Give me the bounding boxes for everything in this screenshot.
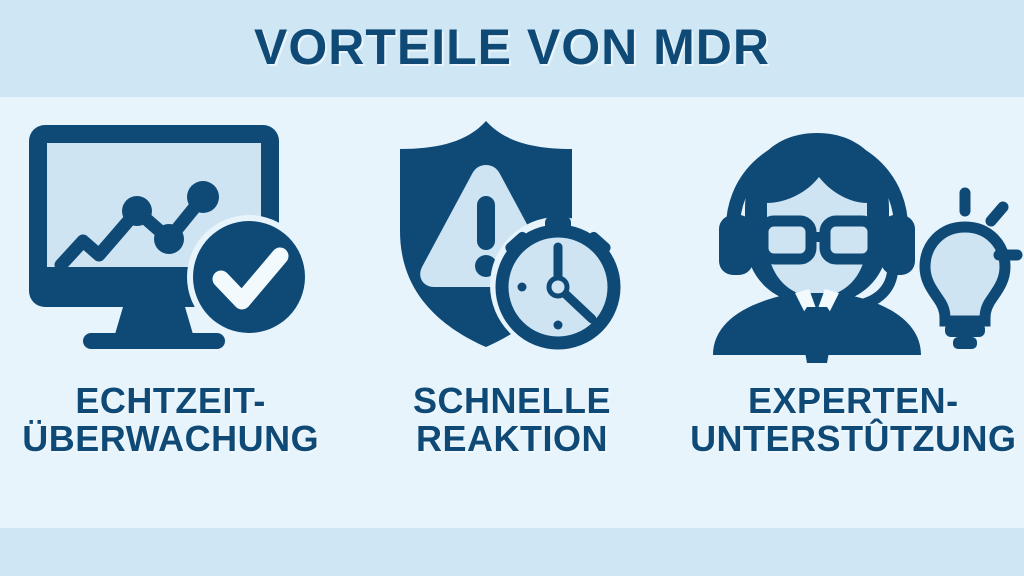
shield-alert-stopwatch-icon (352, 110, 672, 360)
headset-left-earcup (719, 215, 753, 275)
benefits-row: ECHTZEIT- ÜBERWACHUNG (0, 110, 1024, 510)
monitor-stand-base (83, 333, 225, 349)
page-title: VORTEILE VON MDR (0, 18, 1024, 76)
chart-node-2 (154, 224, 184, 254)
support-agent-lightbulb-icon-svg (697, 115, 1009, 355)
caption-line-2: UNTERSTÛTZUNG (690, 420, 1016, 458)
caption-line-1: EXPERTEN- (690, 382, 1016, 420)
shield-alert-stopwatch-icon-svg (382, 119, 642, 351)
benefit-item-expert-support: EXPERTEN- UNTERSTÛTZUNG (683, 110, 1024, 458)
benefit-caption-expert-support: EXPERTEN- UNTERSTÛTZUNG (690, 382, 1016, 458)
chart-node-3 (187, 181, 219, 213)
lightbulb-glass (925, 227, 1005, 321)
benefit-item-fast-reaction: SCHNELLE REAKTION (341, 110, 682, 458)
infographic-canvas: VORTEILE VON MDR (0, 0, 1024, 576)
lightbulb-base (945, 323, 985, 337)
exclamation-bar (477, 196, 495, 250)
bottom-background-band (0, 528, 1024, 576)
caption-line-1: ECHTZEIT- (22, 382, 319, 420)
caption-line-2: ÜBERWACHUNG (22, 420, 319, 458)
stopwatch-tick-bottom (553, 321, 562, 330)
eyeglasses-left-lens (763, 221, 811, 259)
benefit-item-realtime-monitoring: ECHTZEIT- ÜBERWACHUNG (0, 110, 341, 458)
benefit-caption-fast-reaction: SCHNELLE REAKTION (413, 382, 611, 458)
caption-line-1: SCHNELLE (413, 382, 611, 420)
stopwatch-tick-left (517, 283, 526, 292)
check-badge-circle (193, 221, 305, 333)
lightbulb-screw (953, 337, 977, 349)
chart-node-1 (122, 196, 152, 226)
caption-line-2: REAKTION (413, 420, 611, 458)
support-agent-lightbulb-icon (693, 110, 1013, 360)
eyeglasses-right-lens (825, 221, 873, 259)
lightbulb-ray-diagonal (991, 207, 1003, 221)
monitor-chart-check-icon (11, 110, 331, 360)
monitor-chart-check-icon-svg (21, 119, 321, 351)
stopwatch-center-pin (549, 278, 567, 296)
benefit-caption-realtime-monitoring: ECHTZEIT- ÜBERWACHUNG (22, 382, 319, 458)
